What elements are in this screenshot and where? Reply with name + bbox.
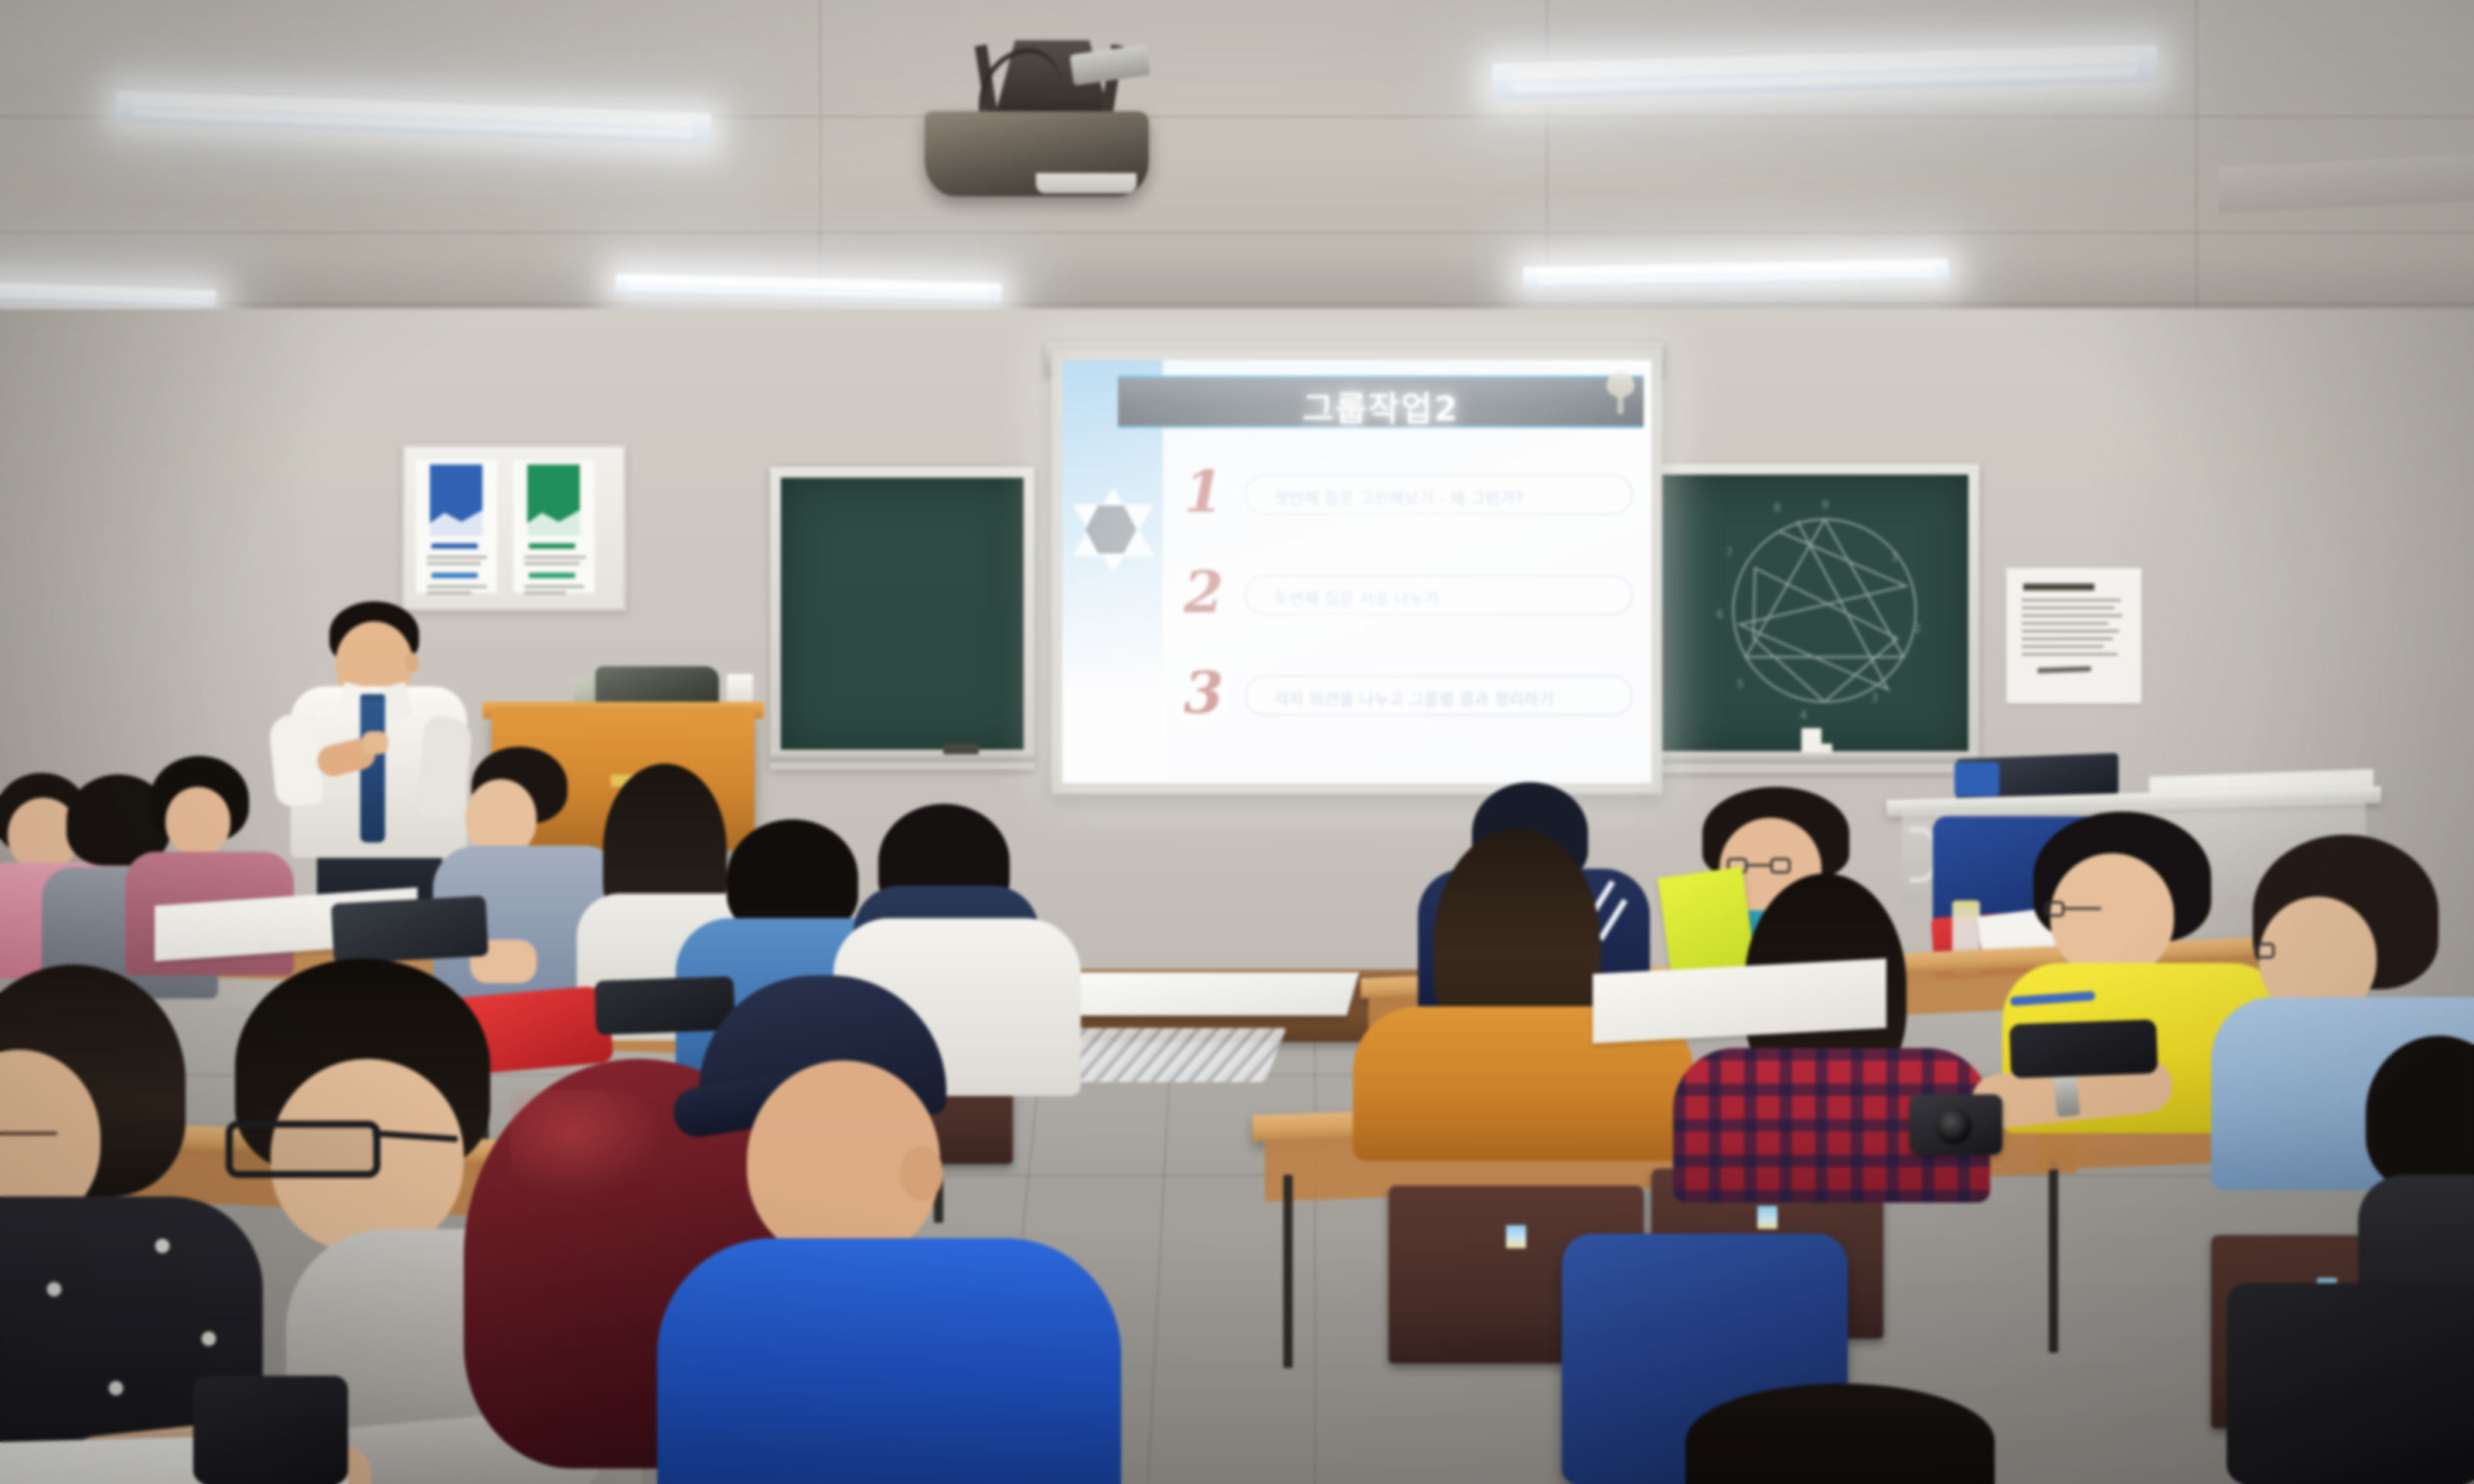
classroom-photo: 912 345 678 그룹작업2	[0, 0, 2474, 1484]
eraser-icon	[943, 744, 979, 754]
slide-item-pill: 각자 의견을 나누고 그룹별 결과 정리하기	[1245, 676, 1633, 716]
svg-text:7: 7	[1726, 546, 1733, 560]
bag-on-desk-left	[331, 896, 489, 964]
desk-leg	[1283, 1175, 1293, 1368]
wall-notice	[2006, 568, 2142, 703]
hair-highlight	[510, 1090, 665, 1198]
pencil-case-icon	[2009, 1019, 2158, 1079]
instructor-tie	[360, 700, 385, 842]
bag-foreground-left	[193, 1376, 348, 1484]
slide-title: 그룹작업2	[1118, 381, 1644, 431]
student-front-far-right	[1685, 1384, 2010, 1484]
svg-text:2: 2	[1914, 621, 1922, 635]
lantern-icon	[1607, 371, 1634, 416]
bag-foreground-dark	[2227, 1283, 2474, 1484]
svg-text:4: 4	[1800, 708, 1808, 722]
slide-item-text: 두번째 질문 서로 나누기	[1274, 587, 1600, 607]
wall-poster-board	[402, 444, 626, 611]
presentation-slide: 그룹작업2 1 첫번째 질문 고민해보기 - 왜 그런가? 2 두번째 질문 서…	[1062, 360, 1651, 783]
slide-item-number: 3	[1171, 660, 1237, 727]
chalk-tray-left	[770, 750, 1034, 762]
glasses-bridge	[1747, 864, 1770, 866]
student-torso	[657, 1238, 1121, 1484]
slide-item-text: 각자 의견을 나누고 그룹별 결과 정리하기	[1274, 687, 1600, 707]
instructor-hand	[362, 731, 388, 754]
eyeglass-lens	[2254, 943, 2275, 958]
enneagram-diagram-icon: 912 345 678	[1709, 495, 1941, 727]
svg-text:6: 6	[1716, 608, 1724, 621]
av-cart-blue-pouch	[1954, 762, 1999, 796]
slide-item-text: 첫번째 질문 고민해보기 - 왜 그런가?	[1274, 486, 1600, 506]
wristwatch-icon	[2053, 1070, 2080, 1118]
slide-row: 1 첫번째 질문 고민해보기 - 왜 그런가?	[1171, 459, 1633, 533]
eyeglass-frame	[226, 1121, 380, 1178]
glasses-arm	[2064, 907, 2101, 910]
glasses-arm	[0, 1132, 57, 1135]
instructor-ear	[405, 652, 419, 672]
desk-leg	[2049, 1159, 2058, 1353]
slide-item-number: 1	[1171, 459, 1237, 526]
student-front-blue-cap	[680, 975, 1113, 1484]
svg-text:1: 1	[1891, 550, 1899, 564]
slide-item-number: 2	[1171, 560, 1237, 626]
camera-icon	[1910, 1094, 2002, 1155]
svg-text:5: 5	[1736, 677, 1744, 691]
slide-row: 2 두번째 질문 서로 나누기	[1171, 560, 1633, 634]
svg-text:9: 9	[1821, 498, 1829, 512]
eyeglass-lens	[1770, 858, 1791, 873]
paper-cup-icon	[1801, 728, 1821, 750]
asset-tag	[1506, 1225, 1526, 1248]
poster-green	[513, 460, 595, 593]
svg-text:8: 8	[1774, 501, 1781, 515]
ear	[900, 1145, 943, 1201]
svg-text:3: 3	[1871, 691, 1879, 705]
poster-blue	[416, 460, 497, 593]
chalkboard-left	[781, 478, 1024, 750]
slide-row: 3 각자 의견을 나누고 그룹별 결과 정리하기	[1171, 660, 1633, 734]
slide-item-pill: 두번째 질문 서로 나누기	[1245, 575, 1633, 615]
projection-screen: 그룹작업2 1 첫번째 질문 고민해보기 - 왜 그런가? 2 두번째 질문 서…	[1051, 349, 1662, 794]
slide-title-bar: 그룹작업2	[1118, 376, 1644, 428]
asset-tag	[1757, 1206, 1777, 1229]
chalk-tray-right	[1639, 751, 1979, 764]
ceiling-projector-icon	[920, 37, 1152, 203]
slide-item-pill: 첫번째 질문 고민해보기 - 왜 그런가?	[1245, 475, 1633, 515]
eyeglass-lens	[2044, 901, 2064, 917]
